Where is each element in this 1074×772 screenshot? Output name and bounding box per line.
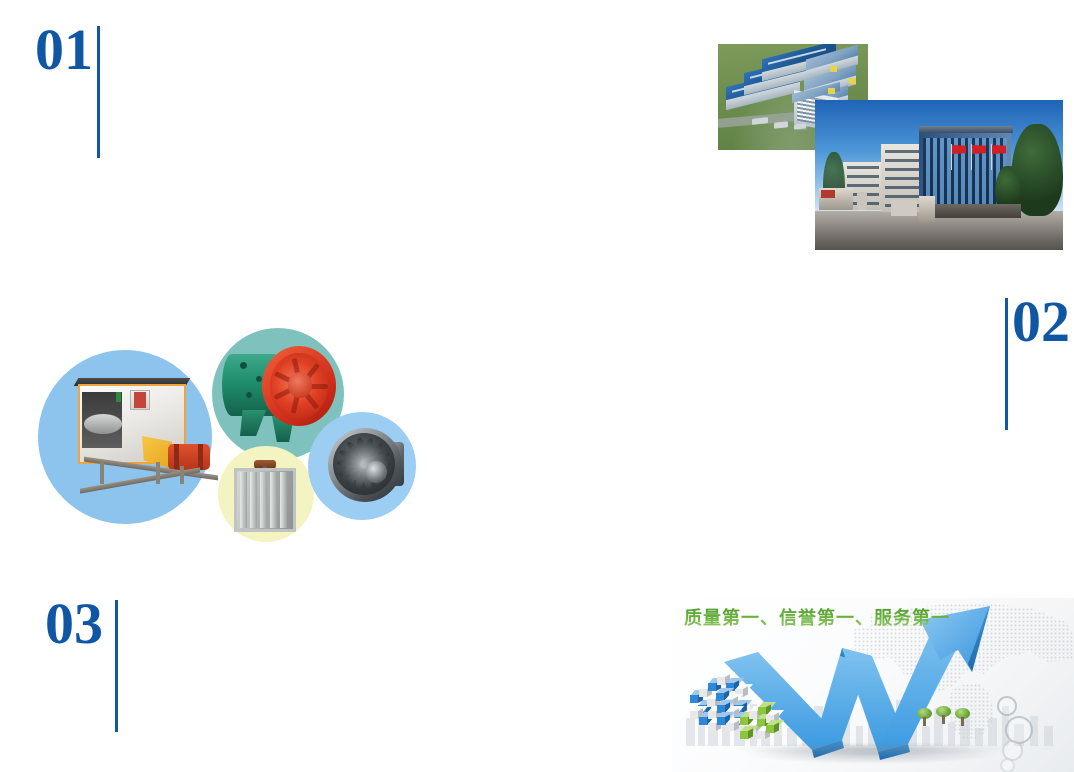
turbine-hub <box>365 461 387 483</box>
boxfan-control-switch <box>134 392 146 408</box>
boxfan-impeller <box>84 414 122 434</box>
cube-cluster-green <box>740 702 782 738</box>
page-canvas: 01 <box>0 0 1074 772</box>
photo-flag-3 <box>992 145 1006 154</box>
office-building-photo <box>815 100 1063 250</box>
photo-flag-1 <box>952 145 966 154</box>
cabinet-box-fan <box>60 362 220 510</box>
photo-flag-2 <box>972 145 986 154</box>
boxfan-motor-band-2 <box>198 444 203 470</box>
axialfan-hub <box>288 372 312 398</box>
bubble-tiny <box>1000 758 1015 772</box>
photo-flagpole-3 <box>991 144 992 170</box>
section-number-03: 03 <box>45 598 118 732</box>
damper-blade <box>250 472 257 528</box>
section-number-03-text: 03 <box>45 598 103 650</box>
growth-arrow-banner: 质量第一、信誉第一、服务第一 <box>672 598 1074 772</box>
turbine-face <box>333 433 395 495</box>
axialfan-bolt-2 <box>246 392 252 398</box>
photo-guard-sign <box>821 190 835 198</box>
turbine-axial-fan <box>320 424 406 508</box>
axialfan-foot-1 <box>240 410 266 436</box>
section-03-rule <box>115 600 118 732</box>
boxfan-leg-2 <box>156 462 160 484</box>
section-01-rule <box>97 26 100 158</box>
section-number-02-text: 02 <box>1012 296 1070 348</box>
photo-flagpole-1 <box>951 144 952 170</box>
boxfan-leg-3 <box>180 466 184 484</box>
render-marker-2 <box>849 78 856 84</box>
damper-blade <box>280 472 287 528</box>
photo-hedge <box>935 204 1021 218</box>
cube <box>766 720 779 733</box>
banner-ground-shadow <box>728 742 1017 756</box>
section-number-01-text: 01 <box>35 24 93 76</box>
photo-roof-cap <box>919 126 1013 133</box>
photo-barrier <box>891 200 917 216</box>
render-marker-1 <box>830 66 837 72</box>
bubble-small <box>997 696 1017 716</box>
damper-blade <box>260 472 267 528</box>
boxfan-green-label <box>116 392 121 402</box>
section-02-rule <box>1005 298 1008 430</box>
axialfan-bolt-3 <box>256 376 262 382</box>
photo-gate-pillar <box>919 196 935 222</box>
photo-post <box>857 192 867 210</box>
boxfan-motor-band-1 <box>174 444 179 470</box>
axialfan-bolt-1 <box>240 362 247 369</box>
damper-blade <box>240 472 247 528</box>
render-marker-3 <box>828 88 835 94</box>
damper-blade <box>270 472 277 528</box>
cube <box>726 718 739 731</box>
boxfan-leg-1 <box>100 462 104 484</box>
banner-slogan: 质量第一、信誉第一、服务第一 <box>684 606 950 632</box>
air-damper-valve <box>230 458 302 536</box>
cube <box>740 726 753 739</box>
photo-flagpole-2 <box>971 144 972 170</box>
section-number-02: 02 <box>1005 296 1070 430</box>
section-number-01: 01 <box>35 24 100 158</box>
